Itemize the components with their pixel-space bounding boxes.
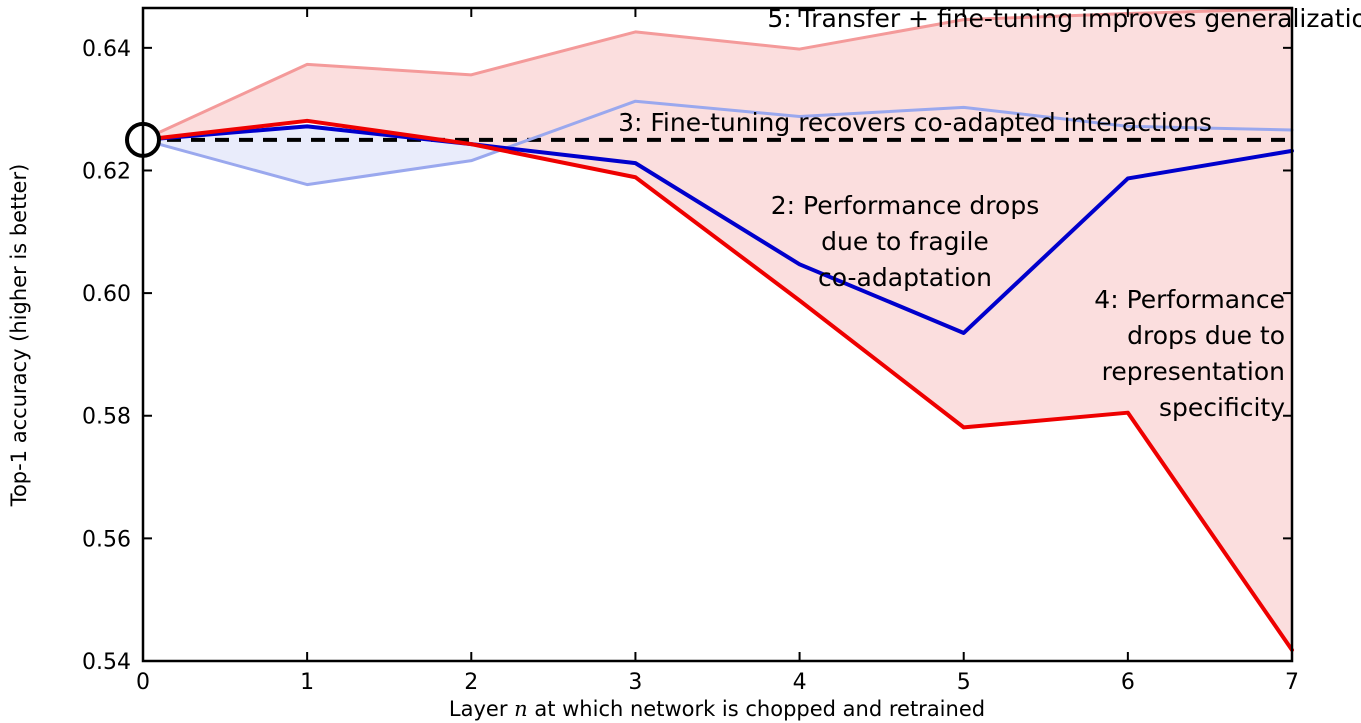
annotation-4-line: 4: Performance (1094, 285, 1285, 314)
annotation-4-line: representation (1102, 357, 1285, 386)
y-tick-label: 0.56 (82, 527, 131, 552)
annotation-3-line: 3: Fine-tuning recovers co-adapted inter… (618, 108, 1212, 137)
y-tick-label: 0.62 (82, 159, 131, 184)
x-tick-label: 4 (793, 670, 807, 695)
x-axis-label: Layer n at which network is chopped and … (449, 697, 985, 721)
x-tick-label: 2 (464, 670, 478, 695)
y-tick-label: 0.60 (82, 282, 131, 307)
annotation-4-line: drops due to (1127, 321, 1285, 350)
x-tick-label: 6 (1121, 670, 1135, 695)
x-axis-label-suffix: at which network is chopped and retraine… (528, 697, 985, 721)
chart-root: 0.540.560.580.600.620.64 01234567 5: Tra… (0, 0, 1361, 723)
y-axis-label: Top-1 accuracy (higher is better) (7, 164, 31, 508)
annotation-5: 5: Transfer + fine-tuning improves gener… (767, 4, 1361, 33)
annotation-4-line: specificity (1159, 393, 1285, 422)
annotation-2-line: due to fragile (821, 227, 989, 256)
annotation-2-line: co-adaptation (818, 263, 992, 292)
y-tick-label: 0.64 (82, 37, 131, 62)
y-tick-label: 0.58 (82, 405, 131, 430)
annotation-3: 3: Fine-tuning recovers co-adapted inter… (618, 108, 1212, 137)
x-tick-label: 5 (957, 670, 971, 695)
x-tick-label: 0 (136, 670, 150, 695)
x-axis-label-variable: n (514, 697, 528, 721)
accuracy-vs-layer-chart: 0.540.560.580.600.620.64 01234567 5: Tra… (0, 0, 1361, 723)
annotation-2-line: 2: Performance drops (771, 191, 1039, 220)
x-tick-label: 7 (1285, 670, 1299, 695)
x-tick-label: 3 (628, 670, 642, 695)
y-tick-label: 0.54 (82, 650, 131, 675)
x-axis-label-prefix: Layer (449, 697, 514, 721)
x-tick-label: 1 (300, 670, 314, 695)
annotation-5-line: 5: Transfer + fine-tuning improves gener… (767, 4, 1361, 33)
